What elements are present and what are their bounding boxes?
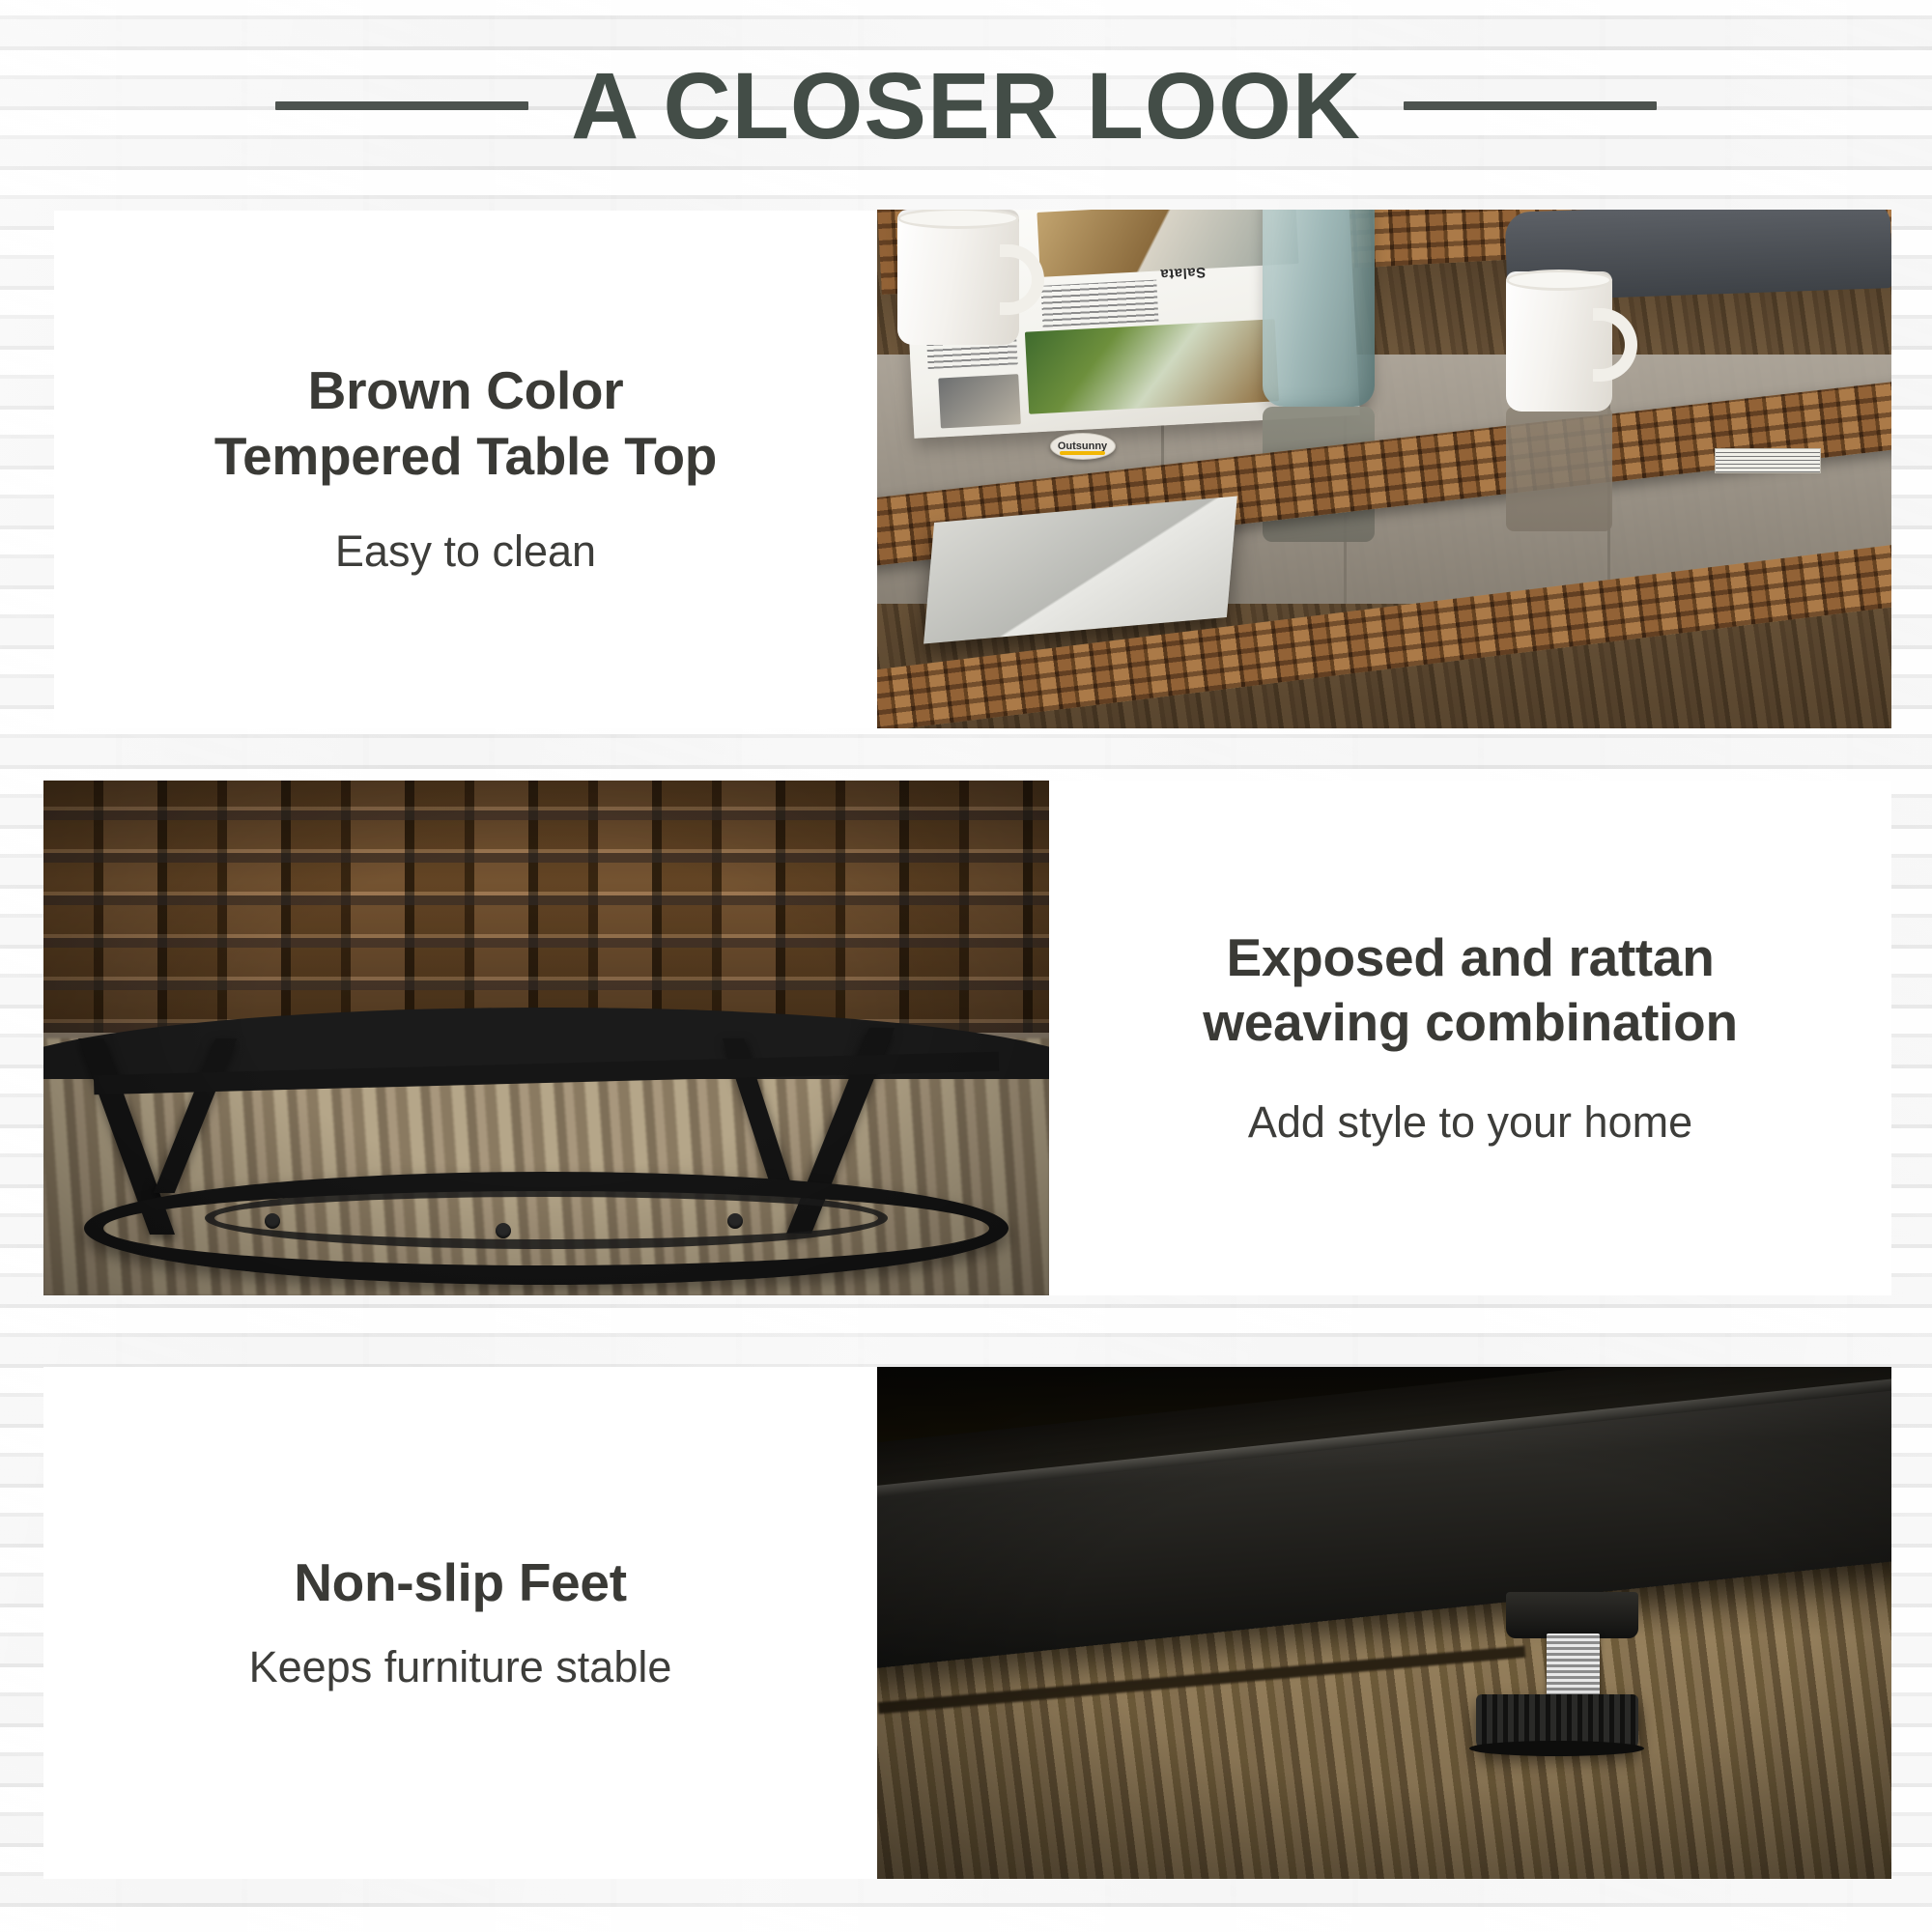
product-spec-label xyxy=(1715,448,1821,473)
page-header: A CLOSER LOOK xyxy=(0,0,1932,211)
header-rule-right xyxy=(1404,101,1657,110)
feature-heading-line2: Tempered Table Top xyxy=(214,424,717,490)
feature-subtext: Easy to clean xyxy=(335,524,596,581)
magazine-headline: Salata xyxy=(1159,264,1206,282)
feature-text-card-rattan-weaving: Exposed and rattan weaving combination A… xyxy=(1049,781,1891,1295)
feature-heading-line1: Non-slip Feet xyxy=(294,1550,626,1616)
feature-text-card-non-slip-feet: Non-slip Feet Keeps furniture stable xyxy=(43,1367,877,1879)
mug-right-reflection xyxy=(1506,407,1612,531)
header-rule-left xyxy=(275,101,528,110)
photo-tempered-table-top: Salata Outsunny xyxy=(877,210,1891,728)
glass-vase xyxy=(1263,210,1375,407)
feature-text-card-tempered-table-top: Brown Color Tempered Table Top Easy to c… xyxy=(54,211,877,728)
photo-non-slip-feet xyxy=(877,1367,1891,1879)
mug-left xyxy=(897,210,1019,345)
infographic-page: A CLOSER LOOK Brown Color Tempered Table… xyxy=(0,0,1932,1932)
feature-heading-line1: Exposed and rattan xyxy=(1227,925,1715,991)
feature-heading-line1: Brown Color xyxy=(308,358,624,424)
brand-badge-label: Outsunny xyxy=(1058,440,1107,452)
magazine-photo-bottom xyxy=(1025,320,1279,414)
mug-right xyxy=(1506,271,1612,412)
page-title: A CLOSER LOOK xyxy=(571,59,1361,153)
feature-subtext: Add style to your home xyxy=(1248,1094,1692,1151)
feature-subtext: Keeps furniture stable xyxy=(249,1639,672,1696)
feature-heading-line2: weaving combination xyxy=(1203,990,1738,1056)
photo-vignette xyxy=(43,781,1049,1295)
photo-rattan-weaving xyxy=(43,781,1049,1295)
magazine-photo-small xyxy=(937,374,1020,428)
brand-badge-outsunny: Outsunny xyxy=(1050,433,1116,460)
magazine-text-column-2 xyxy=(1039,280,1157,327)
photo-vignette xyxy=(877,1367,1891,1879)
